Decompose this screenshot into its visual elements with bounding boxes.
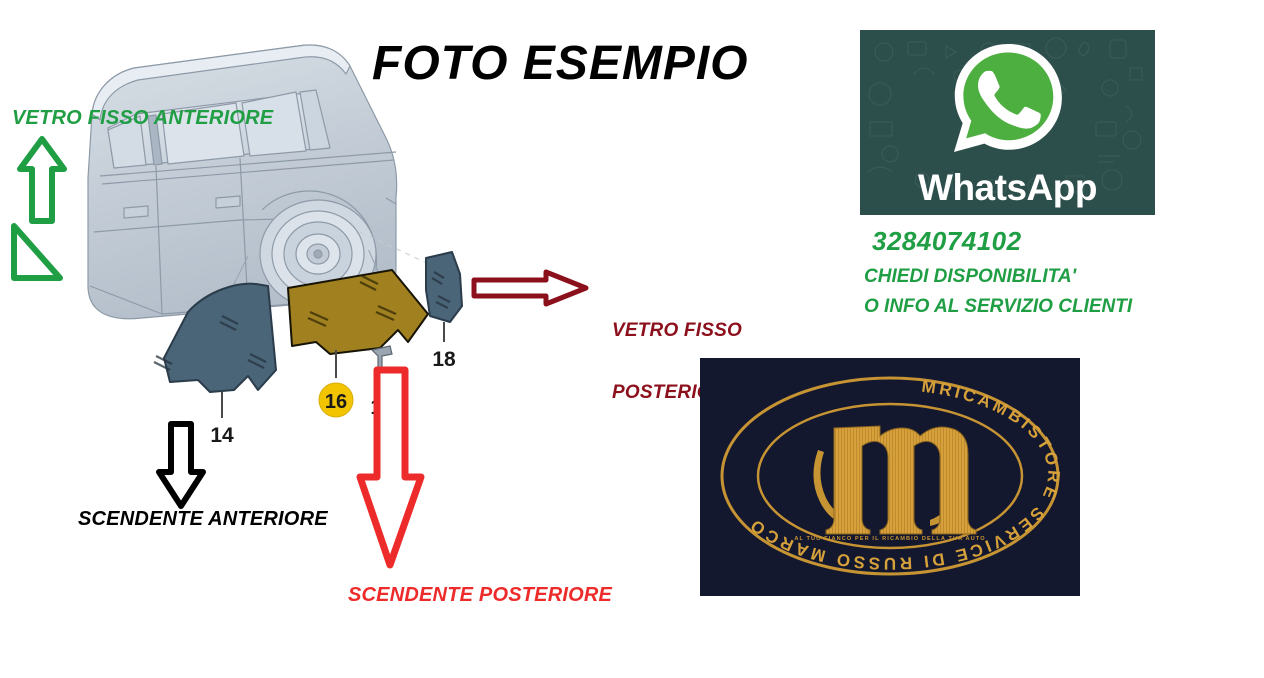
logo-tagline: AL TUO FIANCO PER IL RICAMBIO DELLA TUA … [794, 536, 985, 542]
contact-line-2: O INFO AL SERVIZIO CLIENTI [864, 296, 1132, 318]
triangle-icon [8, 222, 64, 284]
contact-line-1: CHIEDI DISPONIBILITA' [864, 266, 1076, 288]
arrow-up-icon [16, 135, 68, 225]
label-front-drop-glass: SCENDENTE ANTERIORE [78, 509, 328, 531]
part-16-shape [288, 270, 428, 354]
whatsapp-wordmark: WhatsApp [860, 167, 1155, 209]
part-number-18: 18 [432, 348, 456, 371]
label-rear-fixed-glass-line1: VETRO FISSO [612, 321, 742, 342]
arrow-down-icon [155, 420, 207, 510]
phone-number[interactable]: 3284074102 [872, 226, 1022, 257]
whatsapp-icon [948, 38, 1068, 158]
part-number-14: 14 [210, 424, 234, 447]
logo-monogram [813, 426, 976, 534]
arrow-down-long-icon [355, 365, 425, 570]
whatsapp-banner: WhatsApp [860, 30, 1155, 215]
part-14-shape [154, 284, 276, 392]
part-18-shape [426, 252, 462, 322]
label-rear-drop-glass: SCENDENTE POSTERIORE [348, 585, 612, 607]
arrow-right-icon [470, 268, 590, 308]
part-number-16: 16 [325, 391, 347, 413]
brand-logo: MRICAMBISTORE SERVICE DI RUSSO MARCO AL … [700, 358, 1080, 596]
label-front-fixed-glass: VETRO FISSO ANTERIORE [12, 108, 273, 130]
poster-canvas: 14 16 17 [0, 0, 1264, 678]
page-title: FOTO ESEMPIO [372, 36, 749, 91]
